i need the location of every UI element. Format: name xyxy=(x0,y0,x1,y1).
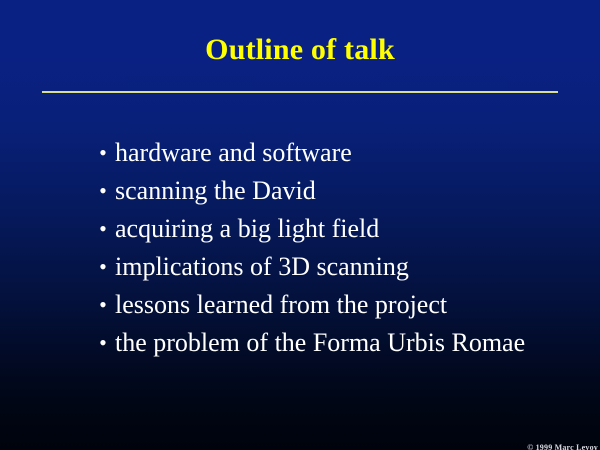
bullet-point-icon: • xyxy=(96,136,110,170)
title-divider-rule xyxy=(42,91,558,93)
list-item-label: implications of 3D scanning xyxy=(88,250,409,284)
list-item-label: the problem of the Forma Urbis Romae xyxy=(88,326,525,360)
copyright-notice: © 1999 Marc Levoy xyxy=(527,443,598,450)
bullet-point-icon: • xyxy=(96,174,110,208)
list-item: • the problem of the Forma Urbis Romae xyxy=(88,326,588,364)
list-item-label: hardware and software xyxy=(88,136,352,170)
list-item: • hardware and software xyxy=(88,136,588,174)
bullet-point-icon: • xyxy=(96,250,110,284)
list-item-label: lessons learned from the project xyxy=(88,288,447,322)
list-item-label: acquiring a big light field xyxy=(88,212,379,246)
list-item: • lessons learned from the project xyxy=(88,288,588,326)
bullet-list: • hardware and software • scanning the D… xyxy=(88,136,588,364)
presentation-slide: Outline of talk • hardware and software … xyxy=(0,0,600,450)
bullet-point-icon: • xyxy=(96,212,110,246)
list-item-label: scanning the David xyxy=(88,174,316,208)
bullet-point-icon: • xyxy=(96,288,110,322)
list-item: • acquiring a big light field xyxy=(88,212,588,250)
list-item: • implications of 3D scanning xyxy=(88,250,588,288)
list-item: • scanning the David xyxy=(88,174,588,212)
slide-title: Outline of talk xyxy=(0,33,600,67)
bullet-point-icon: • xyxy=(96,326,110,360)
